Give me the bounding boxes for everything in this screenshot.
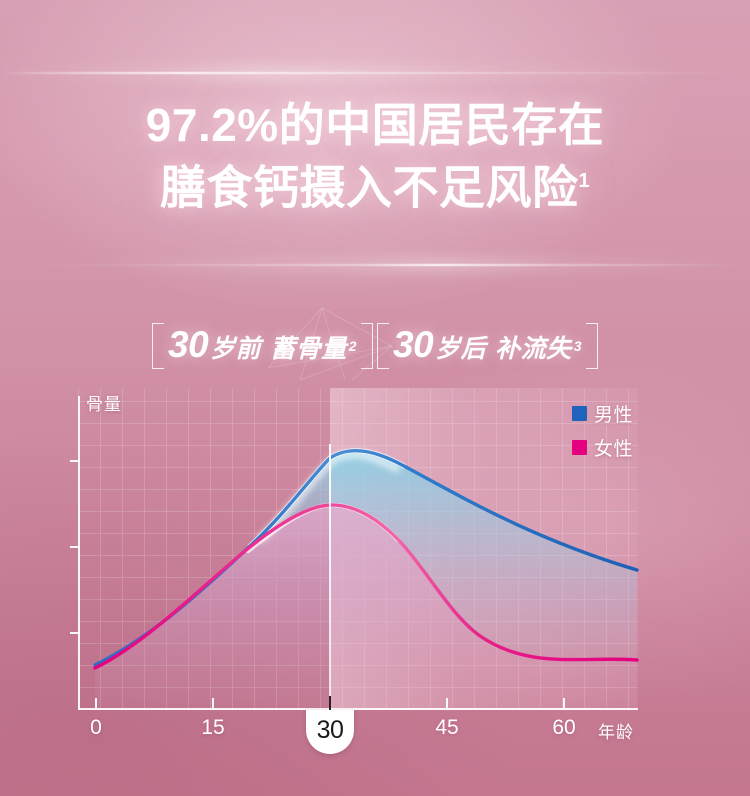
x-tick-label-45: 45 <box>425 716 469 740</box>
x-axis-tick <box>563 698 565 710</box>
subtitle-group-after-30: 30岁后补流失3 <box>377 324 598 366</box>
x-axis-label: 年龄 <box>598 718 634 743</box>
y-axis-tick <box>70 546 80 548</box>
headline-line-1: 97.2%的中国居民存在 <box>0 97 750 153</box>
headline-line-2-text: 膳食钙摄入不足风险 <box>160 161 579 213</box>
y-axis-line <box>78 396 80 710</box>
chart-legend: 男性 女性 <box>572 400 633 468</box>
headline-line-2: 膳食钙摄入不足风险1 <box>0 153 750 215</box>
x-axis-tick <box>95 698 97 710</box>
legend-item-male: 男性 <box>572 400 633 427</box>
x-tick-label-15: 15 <box>191 716 235 740</box>
subtitle-footnote-1: 2 <box>349 338 357 354</box>
subtitle-phase-1: 岁前 <box>210 335 261 363</box>
bone-mass-chart: 骨量 年龄 0 15 45 60 30 男性 女性 <box>0 388 750 748</box>
page-title: 97.2%的中国居民存在 膳食钙摄入不足风险1 <box>0 97 750 215</box>
legend-label-male: 男性 <box>594 400 633 427</box>
light-streak-middle <box>0 256 750 274</box>
subtitle-number-1: 30 <box>168 324 208 365</box>
age-30-badge[interactable]: 30 <box>306 710 354 754</box>
x-axis-line <box>78 708 638 710</box>
x-tick-label-60: 60 <box>542 716 586 740</box>
y-axis-tick <box>70 632 80 634</box>
legend-item-female: 女性 <box>572 434 633 461</box>
subtitle-action-2: 补流失 <box>495 335 572 363</box>
legend-swatch-female <box>572 440 587 455</box>
y-axis-label: 骨量 <box>86 390 122 415</box>
x-axis-tick <box>212 698 214 710</box>
light-streak-top <box>0 64 750 82</box>
x-tick-label-0: 0 <box>74 716 118 740</box>
y-axis-tick <box>70 460 80 462</box>
age-30-badge-label: 30 <box>306 710 354 751</box>
chart-curves <box>0 388 750 748</box>
subtitle-number-2: 30 <box>393 324 433 365</box>
legend-swatch-male <box>572 406 587 421</box>
age-30-divider <box>329 444 331 710</box>
x-axis-tick <box>446 698 448 710</box>
subtitle-footnote-2: 3 <box>574 338 582 354</box>
promo-banner: 97.2%的中国居民存在 膳食钙摄入不足风险1 30岁前蓄骨量2 30岁后补流失… <box>0 0 750 796</box>
subtitle-group-before-30: 30岁前蓄骨量2 <box>152 324 373 366</box>
subtitle-row: 30岁前蓄骨量2 30岁后补流失3 <box>0 324 750 366</box>
headline-footnote-marker: 1 <box>578 170 590 192</box>
subtitle-phase-2: 岁后 <box>435 335 486 363</box>
subtitle-action-1: 蓄骨量 <box>270 335 347 363</box>
legend-label-female: 女性 <box>594 434 633 461</box>
